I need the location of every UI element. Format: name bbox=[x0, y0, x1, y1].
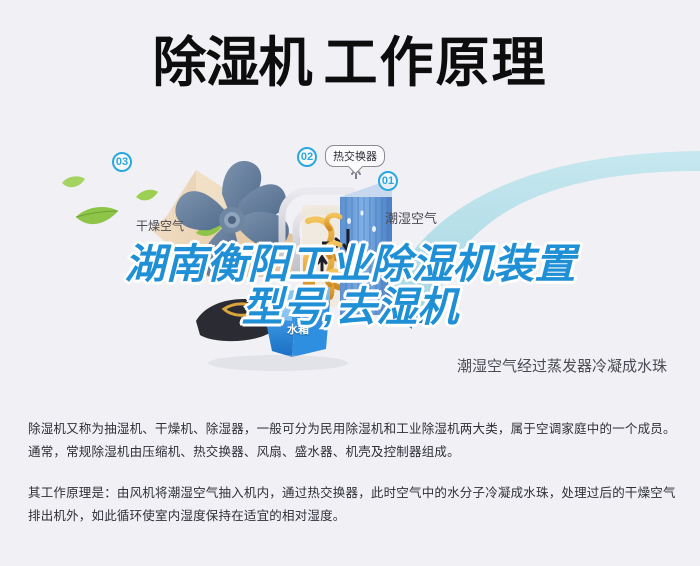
badge-03-dry-air: 03 bbox=[112, 152, 132, 172]
article-body: 除湿机又称为抽湿机、干燥机、除湿器，一般可分为民用除湿机和工业除湿机两大类，属于… bbox=[28, 418, 680, 547]
paragraph-2-line-2: 排出机外，如此循环使室内湿度保持在适宜的相对湿度。 bbox=[28, 505, 680, 528]
label-water-tank: 水箱 bbox=[287, 321, 309, 337]
step-text: 潮湿空气经过蒸发器冷凝成水珠 bbox=[457, 355, 667, 376]
page-title-part2: 工作原理 bbox=[324, 33, 548, 93]
step-badge: 03 bbox=[432, 400, 451, 401]
article-paragraph-2: 其工作原理是：由风机将潮湿空气抽入机内，通过热交换器，此时空气中的水分子冷凝成水… bbox=[28, 482, 680, 528]
paragraph-1-line-2: 通常，常规除湿机由压缩机、热交换器、风扇、盛水器、机壳及控制器组成。 bbox=[28, 441, 680, 464]
label-humid-air: 潮湿空气 bbox=[385, 208, 437, 227]
step-item: 03 从上部出风口吹出清新干爽空气 bbox=[432, 393, 700, 400]
page-header: 除湿机工作原理 bbox=[0, 0, 700, 125]
paragraph-2-line-1: 其工作原理是：由风机将潮湿空气抽入机内，通过热交换器，此时空气中的水分子冷凝成水… bbox=[28, 482, 680, 505]
callout-heat-exchanger: 热交换器 bbox=[325, 145, 385, 167]
badge-01-humid-air: 01 bbox=[378, 171, 398, 191]
paragraph-1-line-1: 除湿机又称为抽湿机、干燥机、除湿器，一般可分为民用除湿机和工业除湿机两大类，属于… bbox=[28, 418, 680, 441]
badge-02-heat-exchanger: 02 bbox=[297, 147, 317, 167]
dehumidifier-principle-diagram: 03 干燥空气 02 热交换器 01 潮湿空气 水箱 01 潮湿空气由下部进风口… bbox=[0, 125, 700, 400]
humid-air-inflow-arrow bbox=[396, 305, 432, 329]
step-item: 02 潮湿空气经过蒸发器冷凝成水珠 bbox=[432, 349, 700, 381]
page-title: 除湿机工作原理 bbox=[153, 36, 548, 90]
label-dry-air: 干燥空气 bbox=[136, 217, 184, 234]
page-title-part1: 除湿机 bbox=[153, 33, 312, 93]
step-text: 从上部出风口吹出清新干爽空气 bbox=[457, 399, 667, 401]
article-paragraph-1: 除湿机又称为抽湿机、干燥机、除湿器，一般可分为民用除湿机和工业除湿机两大类，属于… bbox=[28, 418, 680, 464]
principle-step-list: 01 潮湿空气由下部进风口吸入机内 02 潮湿空气经过蒸发器冷凝成水珠 03 从… bbox=[432, 295, 700, 400]
